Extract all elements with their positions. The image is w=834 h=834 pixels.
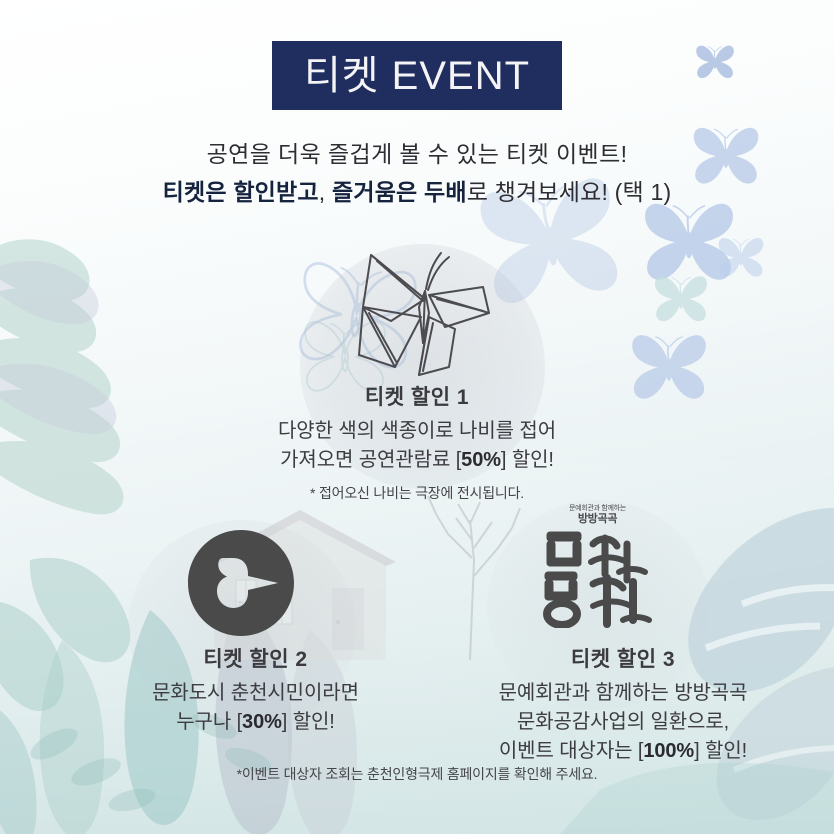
intro-emphasis-1: 티켓은 할인받고 [163,179,319,205]
offer-3-body-suffix: ] 할인! [694,740,747,762]
intro-emphasis-2: 즐거움은 두배 [332,179,467,205]
intro-line-2: 티켓은 할인받고, 즐거움은 두배로 챙겨보세요! (택 1) [0,176,834,209]
offer-2-body-prefix: 누구나 [ [176,711,242,733]
offer-3-note-row: *이벤트 대상자 조회는 춘천인형극제 홈페이지를 확인해 주세요. [0,764,834,784]
intro-comma: , [319,179,332,205]
offer-3-body-line-2: 문화공감사업의 일환으로, [412,708,834,737]
offer-1-discount: 50% [461,449,501,471]
offer-1-note: * 접어오신 나비는 극장에 전시됩니다. [0,483,834,503]
logo3-program-text: 방방곡곡 [535,513,660,526]
offer-2-body-suffix: ] 할인! [282,711,335,733]
munhwa-gonggam-wordmark [535,528,660,633]
offer-block-3: 티켓 할인 3 문예회관과 함께하는 방방곡곡 문화공감사업의 일환으로, 이벤… [412,646,834,766]
offer-1-body-line-2: 가져오면 공연관람료 [50%] 할인! [0,446,834,475]
offer-3-body-line-1: 문예회관과 함께하는 방방곡곡 [412,679,834,708]
offer-1-body-suffix: ] 할인! [501,449,554,471]
intro-text: 공연을 더욱 즐겁게 볼 수 있는 티켓 이벤트! 티켓은 할인받고, 즐거움은… [0,138,834,208]
offer-3-body-line-3: 이벤트 대상자는 [100%] 할인! [412,737,834,766]
offer-2-body-line-2: 누구나 [30%] 할인! [83,708,428,737]
event-title-banner: 티켓 EVENT [272,41,562,110]
offer-1-title: 티켓 할인 1 [0,384,834,411]
offer-1-body-line-1: 다양한 색의 색종이로 나비를 접어 [0,417,834,446]
origami-butterfly-icon [333,243,513,383]
offer-block-2: 티켓 할인 2 문화도시 춘천시민이라면 누구나 [30%] 할인! [83,646,428,737]
offer-3-body-prefix: 이벤트 대상자는 [ [499,740,643,762]
logo3-tagline-text: 문예회관과 함께하는 [535,505,660,513]
offer-3-title: 티켓 할인 3 [412,646,834,673]
offer-2-body-line-1: 문화도시 춘천시민이라면 [83,679,428,708]
offer-3-discount: 100% [643,740,694,762]
intro-line-1: 공연을 더욱 즐겁게 볼 수 있는 티켓 이벤트! [0,138,834,171]
offer-1-body-prefix: 가져오면 공연관람료 [ [280,449,461,471]
offer-2-discount: 30% [242,711,282,733]
offer-2-title: 티켓 할인 2 [83,646,428,673]
offer-3-note: *이벤트 대상자 조회는 춘천인형극제 홈페이지를 확인해 주세요. [237,766,598,782]
chuncheon-culture-city-logo [186,528,296,638]
offer-block-1: 티켓 할인 1 다양한 색의 색종이로 나비를 접어 가져오면 공연관람료 [5… [0,384,834,503]
munhwa-gonggam-tagline: 문예회관과 함께하는 방방곡곡 [535,505,660,526]
munhwa-gonggam-logo: 문예회관과 함께하는 방방곡곡 [535,505,660,635]
page-title: 티켓 EVENT [304,56,530,96]
intro-tail: 로 챙겨보세요! (택 1) [467,179,672,205]
ticket-event-poster: 티켓 EVENT 공연을 더욱 즐겁게 볼 수 있는 티켓 이벤트! 티켓은 할… [0,0,834,834]
